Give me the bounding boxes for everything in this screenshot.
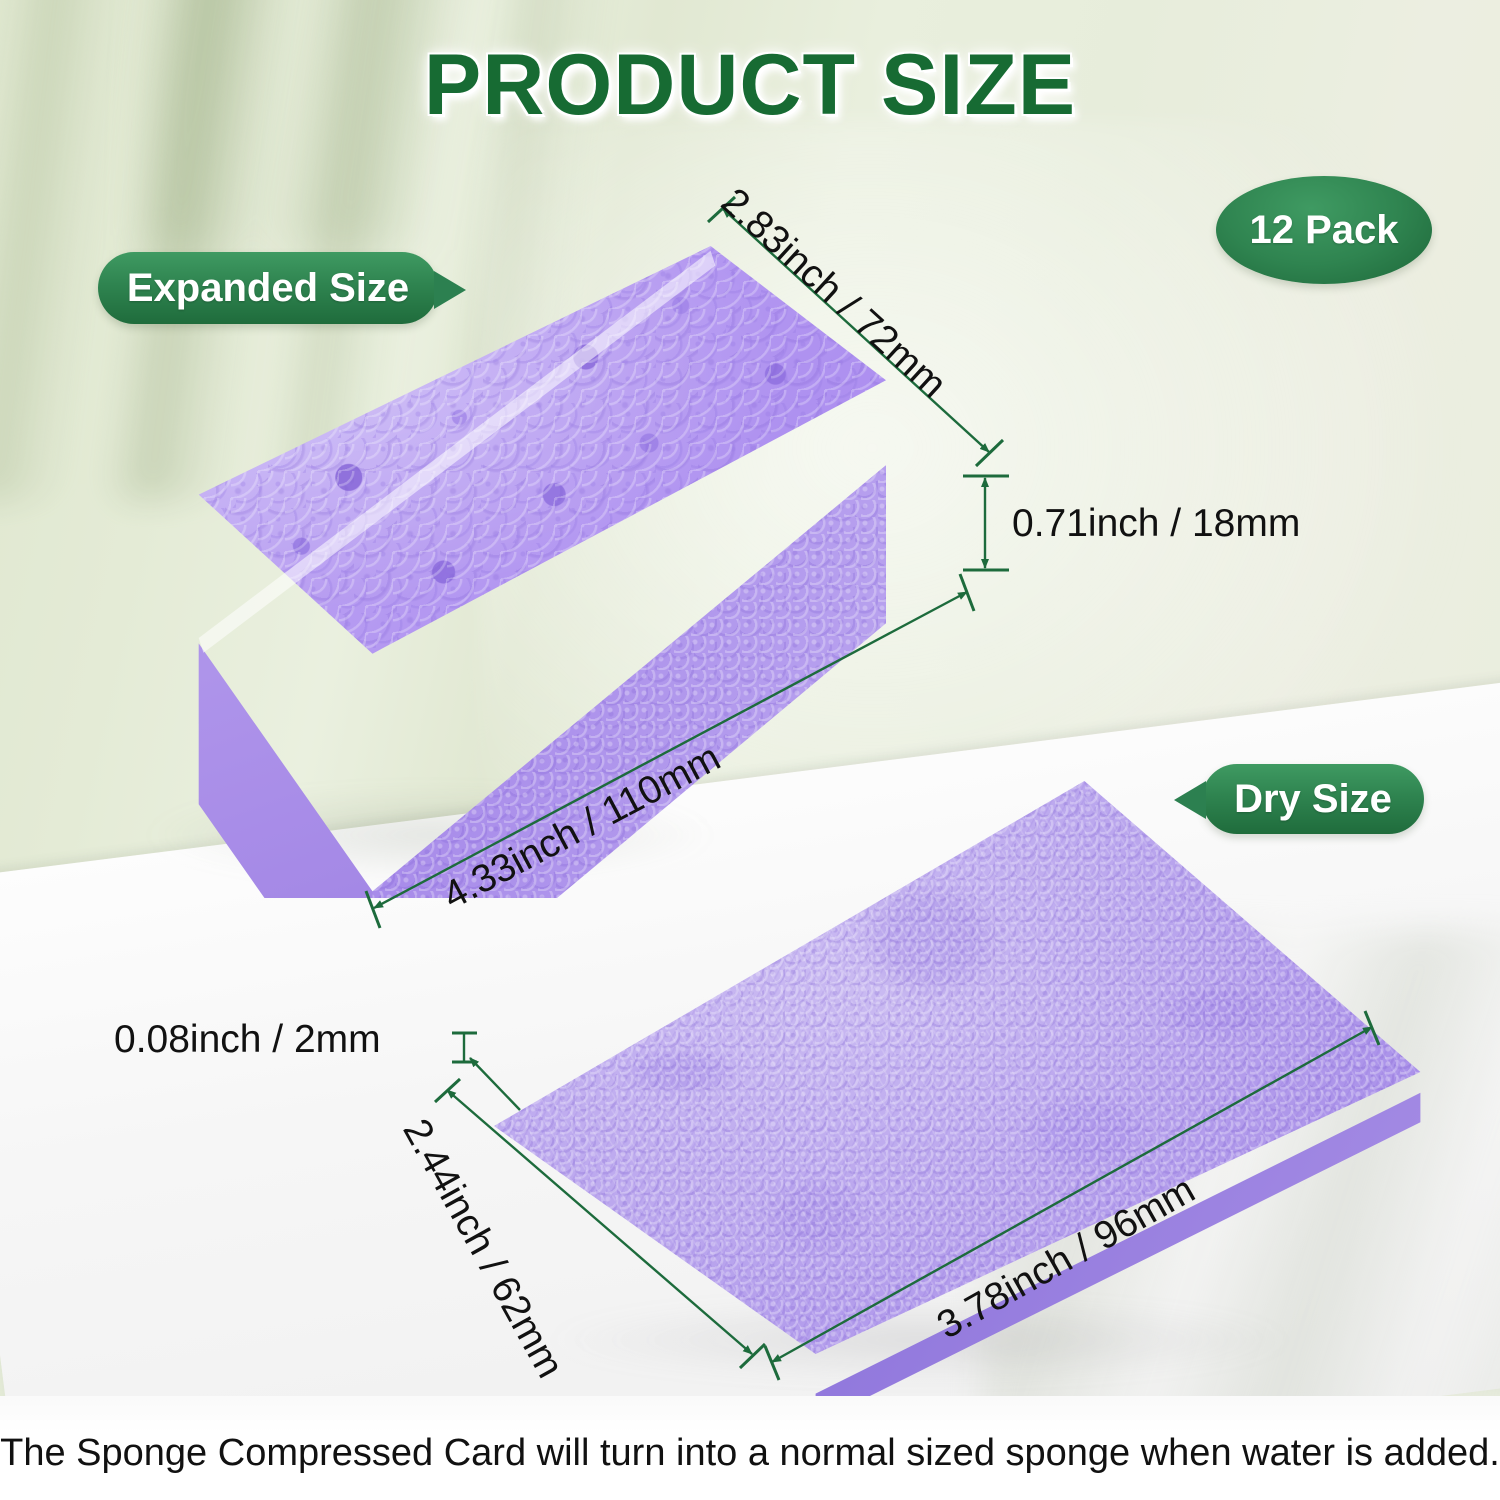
dry-size-badge: Dry Size xyxy=(1202,764,1424,834)
dimension-label-expanded-thickness: 0.71inch / 18mm xyxy=(1012,502,1300,546)
dry-card-image xyxy=(470,760,1430,1380)
expanded-size-badge: Expanded Size xyxy=(98,252,438,324)
product-size-infographic: PRODUCT SIZE 12 Pack Expanded Size Dry S… xyxy=(0,0,1500,1500)
card-fiber-texture xyxy=(470,760,1430,1360)
badge-tail-left-icon xyxy=(1174,781,1206,819)
page-title: PRODUCT SIZE xyxy=(0,36,1500,135)
bottom-caption: The Sponge Compressed Card will turn int… xyxy=(0,1432,1500,1475)
pack-count-label: 12 Pack xyxy=(1249,208,1398,253)
dimension-label-dry-thickness: 0.08inch / 2mm xyxy=(114,1018,381,1062)
badge-tail-right-icon xyxy=(434,271,466,309)
dry-size-label: Dry Size xyxy=(1234,777,1392,822)
expanded-size-label: Expanded Size xyxy=(127,266,409,311)
pack-count-badge: 12 Pack xyxy=(1216,176,1432,284)
